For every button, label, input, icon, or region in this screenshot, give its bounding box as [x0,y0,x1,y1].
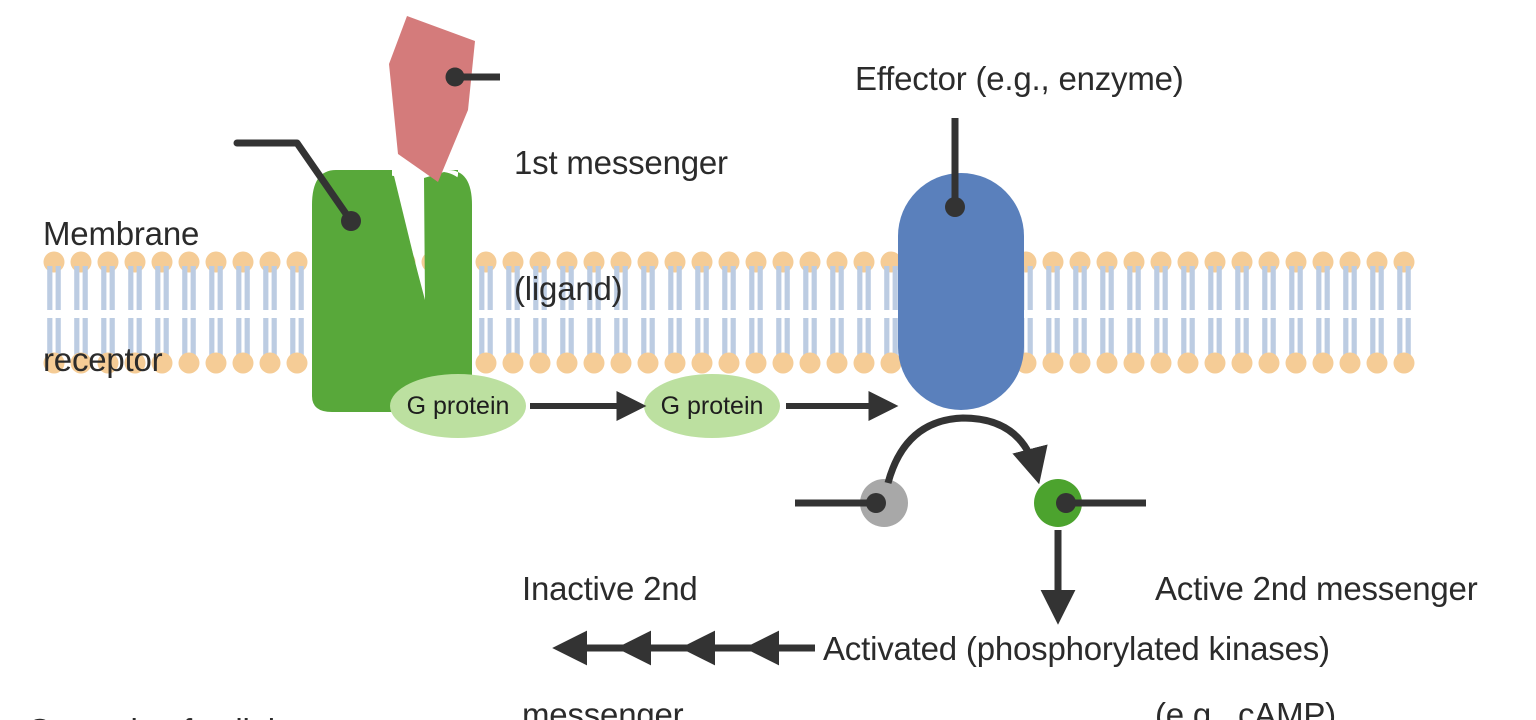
lipid-tail [1406,266,1411,310]
lipid-head [1313,353,1334,374]
lipid-tail [776,266,781,310]
lipid-tail [245,266,250,310]
lipid-head [1151,252,1172,273]
lipid-tail [1208,266,1213,310]
lipid-tail [884,266,889,310]
phospholipid-bilayer [44,252,1415,374]
lipid-tail [1127,266,1132,310]
lipid-head [746,353,767,374]
lipid-head [1340,252,1361,273]
lipid-tail [1163,266,1168,310]
lipid-tail [785,266,790,310]
lipid-tail [1370,266,1375,310]
lipid-tail [506,266,511,310]
lipid-head [287,353,308,374]
lipid-head [1232,353,1253,374]
lipid-head [1394,252,1415,273]
lipid-head [881,353,902,374]
lipid-head [260,252,281,273]
lipid-head [800,252,821,273]
leader-dot-icon [866,493,886,513]
label-membrane-receptor-line1: Membrane [43,213,199,255]
lipid-tail [1325,266,1330,310]
diagram-canvas: 1st messenger (ligand) Membrane receptor… [0,0,1536,720]
label-cascade-line1: Cascade of cellular responses [27,710,526,720]
lipid-tail [209,266,214,310]
receptor-left-lobe [312,172,425,410]
lipid-tail [1217,266,1222,310]
label-active-messenger-line2: (e.g., cAMP) [1155,694,1478,720]
lipid-tail [290,266,295,310]
lipid-tail [749,266,754,310]
lipid-head [476,252,497,273]
lipid-tail [866,266,871,310]
lipid-head [1259,252,1280,273]
lipid-head [476,353,497,374]
lipid-head [1394,353,1415,374]
lipid-tail [218,266,223,310]
lipid-tail [1082,266,1087,310]
label-activated-kinases: Activated (phosphorylated kinases) [823,628,1330,670]
lipid-head [206,252,227,273]
lipid-tail [1190,266,1195,310]
lipid-tail [830,266,835,310]
lipid-tail [731,266,736,310]
lipid-tail [1298,266,1303,310]
label-g-protein-free: G protein [652,394,772,419]
lipid-tail [488,266,493,310]
lipid-head [233,252,254,273]
lipid-head [1286,353,1307,374]
label-g-protein-bound: G protein [398,394,518,419]
lipid-tail [1397,266,1402,310]
label-inactive-messenger-line1: Inactive 2nd [522,568,698,610]
lipid-head [1286,252,1307,273]
lipid-head [1097,353,1118,374]
lipid-tail [857,266,862,310]
lipid-tail [1100,266,1105,310]
lipid-tail [1343,266,1348,310]
lipid-tail [1154,266,1159,310]
lipid-tail [263,266,268,310]
lipid-head [1205,252,1226,273]
lipid-head [206,353,227,374]
lipid-tail [1181,266,1186,310]
lipid-head [1097,252,1118,273]
leader-dot-icon [341,211,361,231]
lipid-tail [1244,266,1249,310]
lipid-tail [1289,266,1294,310]
label-effector: Effector (e.g., enzyme) [855,58,1184,100]
lipid-head [1043,353,1064,374]
curved-arrow-icon [888,418,1036,483]
lipid-head [1205,353,1226,374]
label-first-messenger-line2: (ligand) [514,268,728,310]
label-active-messenger-line1: Active 2nd messenger [1155,568,1478,610]
leader-dot-icon [945,197,965,217]
lipid-head [746,252,767,273]
lipid-head [773,252,794,273]
lipid-head [773,353,794,374]
label-inactive-messenger-line2: messenger [522,694,698,720]
lipid-head [1340,353,1361,374]
lipid-tail [1271,266,1276,310]
label-first-messenger: 1st messenger (ligand) [514,58,728,394]
lipid-tail [1352,266,1357,310]
leader-dot-icon [1056,493,1076,513]
lipid-head [1124,353,1145,374]
lipid-head [1178,353,1199,374]
lipid-head [260,353,281,374]
lipid-head [827,353,848,374]
lipid-head [1070,353,1091,374]
lipid-head [854,353,875,374]
lipid-tail [1235,266,1240,310]
lipid-tail [812,266,817,310]
lipid-tail [1028,266,1033,310]
lipid-tail [1109,266,1114,310]
lipid-layer-outer [44,252,1415,311]
lipid-tail [479,266,484,310]
lipid-head [827,252,848,273]
lipid-head [854,252,875,273]
leader-dot-icon [446,68,465,87]
lipid-tail [1055,266,1060,310]
ligand-polygon-icon[interactable] [389,16,475,182]
lipid-head [1232,252,1253,273]
lipid-head [1313,252,1334,273]
lipid-tail [236,266,241,310]
lipid-tail [893,266,898,310]
lipid-head [1070,252,1091,273]
lipid-tail [839,266,844,310]
lipid-tail [1262,266,1267,310]
label-inactive-messenger: Inactive 2nd messenger [522,484,698,720]
lipid-head [1259,353,1280,374]
label-membrane-receptor: Membrane receptor [43,129,199,465]
lipid-layer-inner [44,318,1415,374]
lipid-tail [803,266,808,310]
lipid-tail [1046,266,1051,310]
lipid-tail [758,266,763,310]
lipid-head [1043,252,1064,273]
lipid-head [1151,353,1172,374]
lipid-tail [1136,266,1141,310]
label-first-messenger-line1: 1st messenger [514,142,728,184]
lipid-head [233,353,254,374]
lipid-tail [1073,266,1078,310]
lipid-tail [272,266,277,310]
label-membrane-receptor-line2: receptor [43,339,199,381]
label-active-messenger: Active 2nd messenger (e.g., cAMP) [1155,484,1478,720]
lipid-head [1367,252,1388,273]
lipid-head [1178,252,1199,273]
lipid-tail [1379,266,1384,310]
lipid-head [1367,353,1388,374]
lipid-head [1124,252,1145,273]
lipid-head [287,252,308,273]
lipid-tail [299,266,304,310]
lipid-tail [1316,266,1321,310]
lipid-head [800,353,821,374]
label-cascade: Cascade of cellular responses (metabolic… [27,626,526,720]
